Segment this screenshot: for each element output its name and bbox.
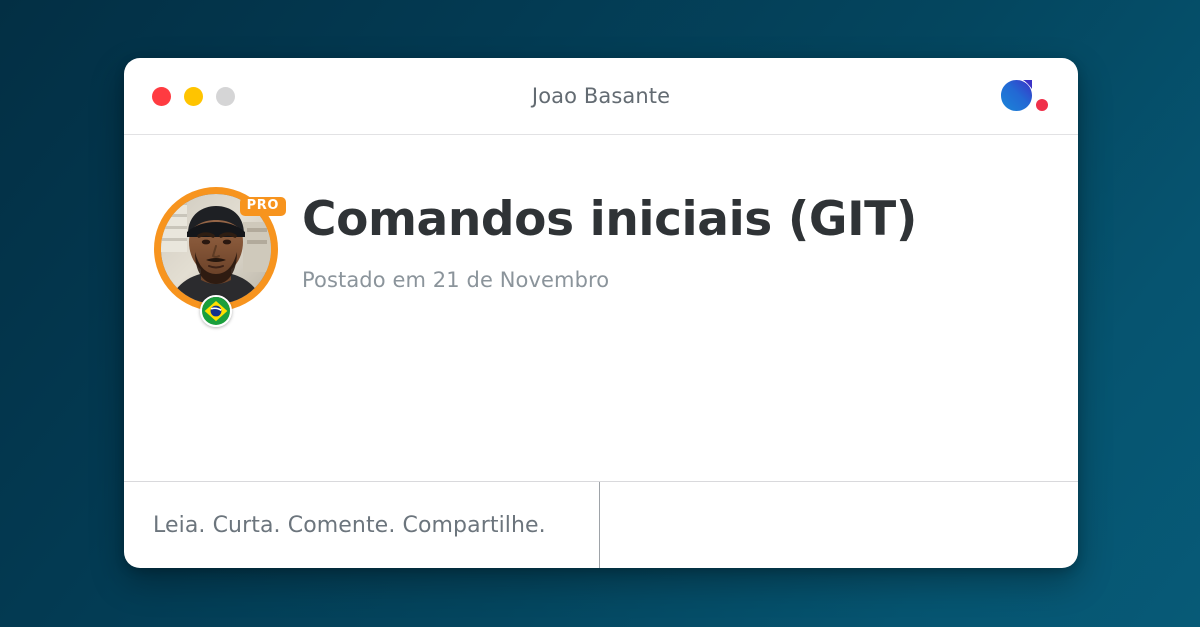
footer-left-cell: Leia. Curta. Comente. Compartilhe. (124, 482, 600, 568)
page-background: Joao Basante (0, 0, 1200, 627)
window-titlebar: Joao Basante (124, 58, 1078, 135)
post-header: PRO Comandos iniciais (GIT) Postado em 2… (124, 187, 1078, 311)
avatar[interactable]: PRO (154, 187, 278, 311)
pro-badge: PRO (240, 197, 286, 216)
maximize-button[interactable] (216, 87, 235, 106)
minimize-button[interactable] (184, 87, 203, 106)
brazil-flag-icon (200, 295, 232, 327)
droplet-logo-icon (998, 74, 1054, 118)
post-date: Postado em 21 de Novembro (302, 268, 917, 292)
card-footer: Leia. Curta. Comente. Compartilhe. (124, 481, 1078, 568)
window-content: PRO Comandos iniciais (GIT) Postado em 2… (124, 135, 1078, 481)
window-title: Joao Basante (124, 84, 1078, 108)
page-title: Comandos iniciais (GIT) (302, 195, 917, 246)
footer-right-cell (600, 482, 1078, 568)
footer-tagline: Leia. Curta. Comente. Compartilhe. (153, 513, 546, 538)
browser-window-card: Joao Basante (124, 58, 1078, 568)
post-text-block: Comandos iniciais (GIT) Postado em 21 de… (278, 187, 917, 292)
window-controls (152, 87, 235, 106)
close-button[interactable] (152, 87, 171, 106)
